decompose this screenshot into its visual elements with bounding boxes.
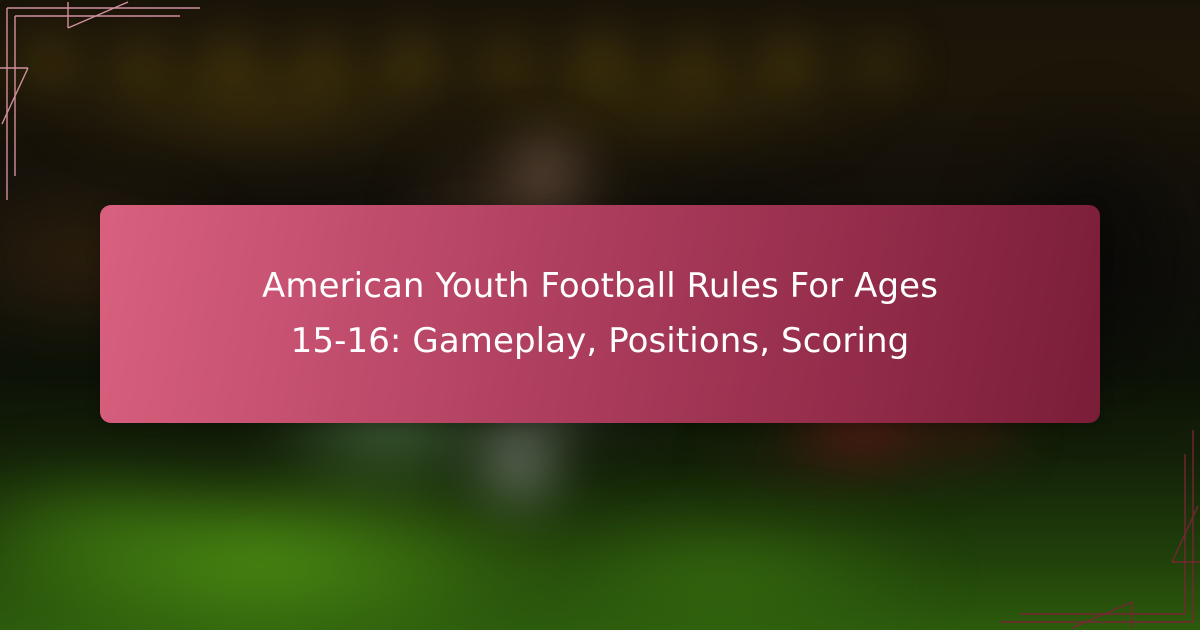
page-title: American Youth Football Rules For Ages 1… xyxy=(144,259,1056,369)
title-banner: American Youth Football Rules For Ages 1… xyxy=(100,205,1100,423)
social-share-card: American Youth Football Rules For Ages 1… xyxy=(0,0,1200,630)
